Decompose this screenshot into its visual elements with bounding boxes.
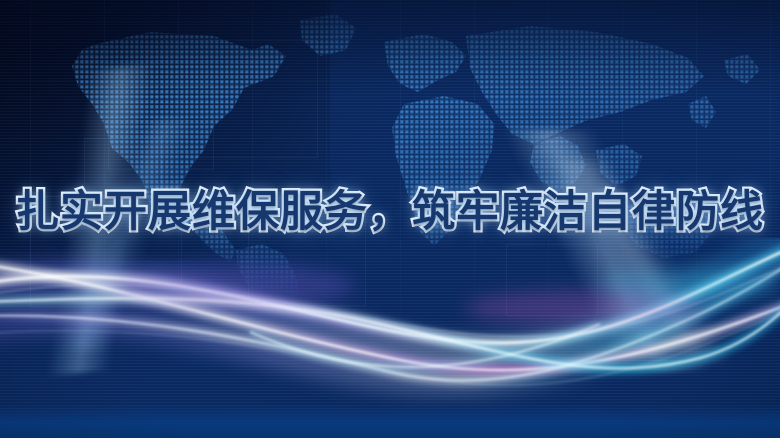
banner-slide: 扎实开展维保服务，筑牢廉洁自律防线: [0, 0, 780, 438]
background-vignette: [0, 0, 780, 438]
